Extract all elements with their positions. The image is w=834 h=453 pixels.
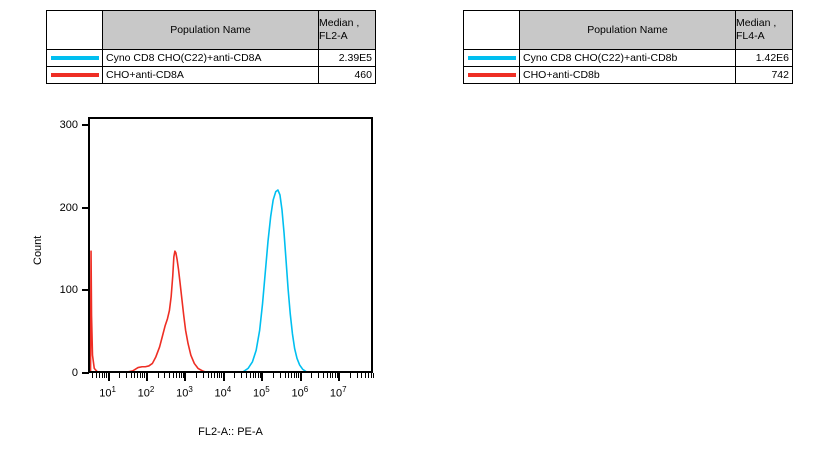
- y-tick-label: 200: [42, 202, 78, 214]
- x-tick-minor: [158, 373, 159, 378]
- x-tick-minor: [179, 373, 180, 378]
- x-tick-minor: [330, 373, 331, 378]
- x-tick-minor: [273, 373, 274, 378]
- x-tick-minor: [214, 373, 215, 378]
- x-tick-minor: [327, 373, 328, 378]
- x-tick-minor: [311, 373, 312, 378]
- x-tick-minor: [288, 373, 289, 378]
- x-tick-major: [300, 373, 302, 381]
- x-tick-minor: [255, 373, 256, 378]
- x-tick-minor: [92, 373, 93, 378]
- x-tick-minor: [250, 373, 251, 378]
- x-tick-label: 105: [253, 385, 270, 400]
- x-tick-minor: [234, 373, 235, 378]
- x-tick-minor: [253, 373, 254, 378]
- x-tick-minor: [258, 373, 259, 378]
- x-tick-label: 101: [99, 385, 116, 400]
- x-tick-minor: [211, 373, 212, 378]
- y-tick-label: 0: [42, 367, 78, 379]
- x-tick-minor: [368, 373, 369, 378]
- x-tick-minor: [203, 373, 204, 378]
- panel-fl4a: Population Name Median , FL4-A Cyno CD8 …: [417, 0, 834, 453]
- x-tick-minor: [294, 373, 295, 378]
- x-tick-minor: [318, 373, 319, 378]
- y-tick: [82, 372, 89, 374]
- x-tick-minor: [169, 373, 170, 378]
- histogram-curve: [91, 251, 371, 373]
- x-tick-minor: [181, 373, 182, 378]
- x-tick-minor: [104, 373, 105, 378]
- x-tick-minor: [99, 373, 100, 378]
- x-tick-minor: [350, 373, 351, 378]
- x-tick-minor: [173, 373, 174, 378]
- x-tick-minor: [246, 373, 247, 378]
- x-tick-major: [108, 373, 110, 381]
- x-tick-label: 106: [291, 385, 308, 400]
- y-tick-label: 300: [42, 119, 78, 131]
- panel-fl2a: Population Name Median , FL2-A Cyno CD8 …: [0, 0, 417, 453]
- y-tick: [82, 124, 89, 126]
- x-tick-minor: [96, 373, 97, 378]
- y-axis-label: Count: [32, 236, 44, 265]
- y-tick: [82, 289, 89, 291]
- plot-fl2a: 0100200300Count101102103104105106107FL2-…: [0, 0, 417, 453]
- histogram-curves: [90, 119, 373, 373]
- x-tick-major: [146, 373, 148, 381]
- x-tick-major: [223, 373, 225, 381]
- x-tick-minor: [373, 373, 374, 378]
- x-tick-minor: [126, 373, 127, 378]
- x-tick-minor: [291, 373, 292, 378]
- x-tick-major: [261, 373, 263, 381]
- x-tick-label: 104: [215, 385, 232, 400]
- x-tick-minor: [196, 373, 197, 378]
- x-tick-minor: [335, 373, 336, 378]
- x-axis-label: FL2-A:: PE-A: [198, 426, 263, 438]
- x-tick-minor: [357, 373, 358, 378]
- x-tick-minor: [219, 373, 220, 378]
- x-tick-minor: [176, 373, 177, 378]
- histogram-curve: [91, 190, 371, 373]
- x-tick-minor: [217, 373, 218, 378]
- plot-frame: [88, 117, 373, 373]
- x-tick-minor: [365, 373, 366, 378]
- x-tick-minor: [332, 373, 333, 378]
- x-tick-minor: [285, 373, 286, 378]
- x-tick-label: 107: [330, 385, 347, 400]
- x-tick-major: [184, 373, 186, 381]
- x-tick-minor: [280, 373, 281, 378]
- y-tick-label: 100: [42, 284, 78, 296]
- x-tick-minor: [241, 373, 242, 378]
- plot-fl4a: 050100150200Count101102103104105106107FL…: [417, 0, 834, 453]
- x-tick-label: 102: [138, 385, 155, 400]
- x-tick-minor: [119, 373, 120, 378]
- x-tick-label: 103: [176, 385, 193, 400]
- x-tick-major: [338, 373, 340, 381]
- x-tick-minor: [371, 373, 372, 378]
- x-tick-minor: [208, 373, 209, 378]
- x-tick-minor: [361, 373, 362, 378]
- x-tick-minor: [102, 373, 103, 378]
- x-tick-minor: [142, 373, 143, 378]
- x-tick-minor: [137, 373, 138, 378]
- x-tick-minor: [323, 373, 324, 378]
- x-tick-minor: [296, 373, 297, 378]
- x-tick-minor: [140, 373, 141, 378]
- x-tick-minor: [134, 373, 135, 378]
- y-tick: [82, 207, 89, 209]
- x-tick-minor: [131, 373, 132, 378]
- x-tick-minor: [164, 373, 165, 378]
